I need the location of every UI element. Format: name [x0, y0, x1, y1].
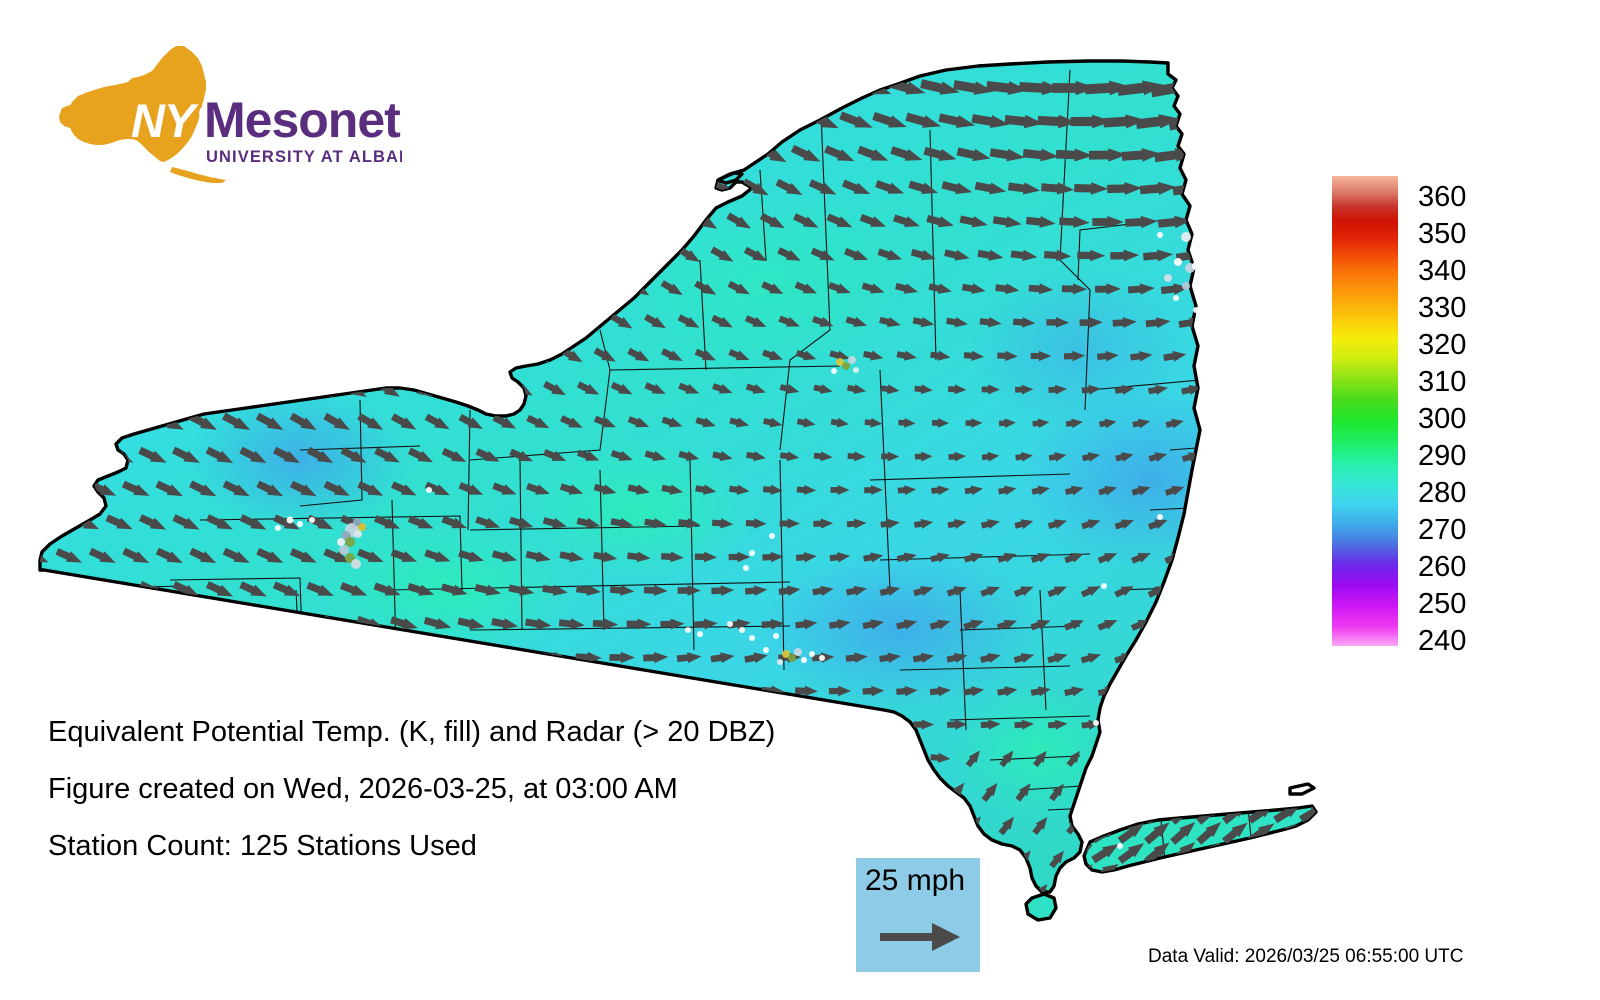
- wind-arrow-icon: [1288, 210, 1320, 235]
- wind-arrow-icon: [13, 144, 58, 166]
- wind-arrow-icon: [1249, 916, 1269, 936]
- wind-arrow-icon: [1208, 247, 1242, 265]
- wind-arrow-icon: [64, 175, 108, 201]
- wind-arrow-icon: [440, 649, 470, 667]
- wind-arrow-icon: [507, 243, 536, 269]
- radar-echo-cell: [788, 654, 796, 662]
- wind-arrow-icon: [490, 683, 520, 698]
- radar-echo-cell: [831, 368, 837, 374]
- wind-arrow-icon: [200, 173, 241, 204]
- wind-arrow-icon: [474, 310, 503, 335]
- wind-arrow-icon: [1266, 882, 1286, 902]
- radar-echo-cell: [749, 635, 755, 641]
- colorbar-tick-350: 350: [1418, 220, 1466, 249]
- wind-arrow-icon: [1231, 415, 1252, 430]
- wind-arrow-icon: [706, 108, 740, 135]
- wind-arrow-icon: [350, 72, 392, 103]
- colorbar-tick-280: 280: [1418, 479, 1466, 508]
- colorbar-tick-270: 270: [1418, 516, 1466, 545]
- wind-arrow-icon: [319, 207, 355, 238]
- wind-arrow-icon: [21, 744, 51, 772]
- wind-arrow-icon: [1147, 649, 1170, 665]
- radar-echo-cell: [777, 659, 783, 665]
- wind-arrow-icon: [1081, 781, 1101, 803]
- radar-echo-cell: [309, 517, 315, 523]
- wind-arrow-icon: [1211, 314, 1239, 330]
- wind-arrow-icon: [82, 209, 124, 236]
- wind-arrow-icon: [104, 645, 135, 669]
- colorbar-tick-290: 290: [1418, 442, 1466, 471]
- wind-arrow-icon: [198, 106, 243, 136]
- wind-arrow-icon: [574, 176, 603, 202]
- wind-arrow-icon: [642, 244, 669, 267]
- wind-arrow-icon: [1264, 481, 1288, 498]
- wind-arrow-icon: [1230, 548, 1254, 566]
- wind-arrow-icon: [13, 79, 59, 98]
- wind-arrow-icon: [688, 74, 724, 101]
- wind-arrow-icon: [592, 278, 618, 301]
- wind-arrow-icon: [1284, 71, 1320, 104]
- wind-arrow-icon: [1199, 882, 1218, 902]
- radar-echo-cell: [1199, 241, 1205, 247]
- wind-arrow-icon: [251, 207, 289, 238]
- wind-arrow-icon: [1272, 859, 1304, 885]
- wind-arrow-icon: [1099, 748, 1118, 768]
- radar-echo-cell: [339, 545, 349, 555]
- wind-arrow-icon: [438, 174, 472, 204]
- wind-arrow-icon: [305, 647, 337, 669]
- wind-arrow-icon: [421, 207, 454, 236]
- wind-arrow-icon: [657, 142, 688, 168]
- wind-arrow-icon: [71, 645, 101, 669]
- wind-arrow-icon: [1182, 781, 1201, 801]
- wind-arrow-icon: [1267, 106, 1317, 137]
- wind-arrow-icon: [63, 109, 109, 133]
- wind-arrow-icon: [353, 207, 388, 237]
- radar-echo-cell: [1157, 232, 1163, 238]
- wind-arrow-icon: [741, 917, 772, 933]
- wind-arrow-icon: [1282, 719, 1302, 731]
- wind-arrow-icon: [1200, 109, 1250, 135]
- wind-arrow-icon: [235, 241, 272, 271]
- wind-arrow-icon: [51, 344, 88, 368]
- wind-arrow-icon: [121, 612, 152, 635]
- wind-arrow-icon: [269, 241, 305, 271]
- wind-arrow-icon: [55, 612, 85, 635]
- wind-arrow-icon: [352, 139, 390, 171]
- wind-arrow-icon: [1216, 916, 1235, 936]
- wind-arrow-icon: [21, 678, 51, 703]
- wind-arrow-icon: [288, 680, 320, 703]
- radar-echo-cell: [853, 367, 859, 373]
- wind-arrow-icon: [504, 107, 539, 136]
- wind-arrow-icon: [204, 909, 237, 941]
- wind-arrow-icon: [1081, 915, 1101, 937]
- wind-arrow-icon: [121, 678, 153, 703]
- wind-arrow-icon: [707, 918, 739, 934]
- wind-arrow-icon: [166, 174, 208, 204]
- radar-echo-cell: [743, 565, 749, 571]
- wind-arrow-icon: [186, 343, 221, 370]
- data-valid-timestamp: Data Valid: 2026/03/25 06:55:00 UTC: [1148, 946, 1463, 968]
- wind-arrow-icon: [556, 141, 587, 168]
- radar-echo-cell: [1164, 274, 1172, 282]
- figure-station-line: Station Count: 125 Stations Used: [48, 832, 948, 861]
- wind-arrow-icon: [810, 911, 836, 939]
- wind-arrow-icon: [73, 910, 100, 941]
- wind-arrow-icon: [31, 176, 75, 200]
- radar-echo-cell: [351, 559, 361, 569]
- wind-arrow-icon: [50, 277, 90, 302]
- wind-arrow-icon: [389, 343, 420, 369]
- radar-echo-cell: [353, 518, 361, 526]
- wind-arrow-icon: [1272, 839, 1304, 865]
- wind-arrow-icon: [1294, 347, 1320, 366]
- wind-arrow-icon: [609, 244, 636, 267]
- wind-arrow-icon: [491, 344, 519, 367]
- wind-arrow-icon: [1215, 718, 1235, 730]
- wind-arrow-icon: [555, 74, 590, 102]
- wind-arrow-icon: [287, 275, 322, 304]
- wind-arrow-icon: [1169, 858, 1199, 887]
- radar-echo-cell: [739, 627, 745, 633]
- wind-arrow-icon: [787, 75, 825, 101]
- wind-arrow-icon: [370, 173, 406, 204]
- wind-arrow-icon: [1255, 211, 1295, 234]
- wind-arrow-icon: [101, 309, 139, 335]
- wind-arrow-icon: [30, 110, 76, 132]
- wind-arrow-icon: [132, 174, 175, 203]
- figure-title: Equivalent Potential Temp. (K, fill) and…: [48, 718, 948, 747]
- radar-echo-cell: [354, 530, 362, 538]
- wind-arrow-icon: [521, 74, 557, 103]
- wind-arrow-icon: [1183, 75, 1233, 101]
- wind-arrow-icon: [183, 207, 223, 237]
- wind-arrow-icon: [321, 275, 355, 304]
- wind-arrow-icon: [236, 309, 271, 337]
- wind-arrow-icon: [339, 647, 370, 668]
- wind-arrow-icon: [1217, 74, 1267, 103]
- colorbar-tick-250: 250: [1418, 590, 1466, 619]
- wind-arrow-icon: [271, 377, 303, 403]
- radar-echo-cell: [297, 521, 303, 527]
- colorbar-tick-340: 340: [1418, 257, 1466, 286]
- wind-arrow-icon: [456, 208, 488, 236]
- wind-arrow-icon: [1205, 178, 1246, 199]
- wind-arrow-icon: [606, 108, 639, 135]
- wind-arrow-icon: [1226, 280, 1258, 298]
- radar-echo-cell: [794, 648, 802, 656]
- wind-arrow-icon: [488, 140, 522, 169]
- wind-arrow-icon: [1241, 246, 1277, 266]
- wind-arrow-icon: [248, 73, 293, 103]
- wind-arrow-icon: [1216, 849, 1235, 869]
- wind-arrow-icon: [254, 343, 288, 370]
- wind-arrow-icon: [1132, 748, 1151, 768]
- wind-arrow-icon: [674, 176, 704, 201]
- wind-arrow-icon: [32, 243, 73, 267]
- wind-arrow-icon: [336, 173, 373, 204]
- wind-arrow-icon: [88, 612, 118, 635]
- wind-arrow-icon: [384, 72, 425, 103]
- radar-echo-cell: [769, 533, 775, 539]
- wind-arrow-icon: [658, 210, 686, 234]
- wind-arrow-icon: [405, 241, 437, 270]
- wind-arrow-icon: [1264, 684, 1286, 698]
- radar-echo-cell: [773, 633, 779, 639]
- wind-arrow-icon: [1247, 581, 1271, 600]
- wind-arrow-icon: [135, 309, 172, 336]
- wind-scale-arrow-icon: [878, 920, 962, 954]
- wind-arrow-icon: [1262, 347, 1290, 364]
- wind-arrow-icon: [164, 107, 209, 136]
- wind-arrow-icon: [71, 579, 101, 601]
- wind-arrow-icon: [1165, 882, 1184, 902]
- wind-arrow-icon: [1266, 748, 1286, 768]
- wind-arrow-icon: [1284, 140, 1320, 171]
- wind-arrow-icon: [154, 678, 186, 703]
- wind-arrow-icon: [151, 275, 189, 303]
- wind-arrow-icon: [138, 645, 169, 669]
- radar-echo-cell: [1192, 262, 1200, 270]
- radar-echo-cell: [1093, 720, 1099, 726]
- wind-arrow-icon: [1274, 245, 1311, 267]
- wind-arrow-icon: [300, 106, 342, 138]
- wind-arrow-icon: [404, 173, 439, 203]
- wind-arrow-icon: [16, 277, 56, 300]
- wind-arrow-icon: [588, 74, 622, 101]
- wind-arrow-icon: [1246, 858, 1277, 885]
- wind-arrow-icon: [1198, 684, 1220, 698]
- wind-arrow-icon: [282, 73, 326, 104]
- wind-arrow-icon: [1197, 615, 1221, 633]
- wind-arrow-icon: [625, 210, 653, 234]
- wind-arrow-icon: [406, 309, 437, 335]
- wind-arrow-icon: [1244, 314, 1274, 332]
- wind-arrow-icon: [673, 918, 705, 932]
- wind-arrow-icon: [221, 679, 253, 703]
- wind-arrow-icon: [474, 649, 503, 665]
- wind-arrow-icon: [1186, 144, 1230, 166]
- wind-arrow-icon: [423, 275, 454, 302]
- wind-arrow-icon: [87, 678, 118, 704]
- wind-arrow-icon: [113, 75, 160, 100]
- wind-arrow-icon: [255, 613, 286, 635]
- colorbar-tick-320: 320: [1418, 331, 1466, 360]
- wind-arrow-icon: [1098, 881, 1118, 902]
- wind-arrow-icon: [237, 377, 270, 403]
- wind-arrow-icon: [105, 910, 134, 942]
- radar-echo-cell: [1181, 232, 1191, 242]
- wind-arrow-icon: [202, 309, 238, 337]
- wind-arrow-icon: [754, 75, 792, 102]
- wind-arrow-icon: [1197, 482, 1219, 498]
- radar-echo-cell: [819, 655, 825, 661]
- wind-arrow-icon: [1223, 212, 1261, 232]
- wind-arrow-icon: [541, 243, 569, 268]
- wind-arrow-icon: [558, 209, 587, 234]
- wind-arrow-icon: [284, 139, 325, 171]
- wind-arrow-icon: [452, 73, 490, 103]
- wind-arrow-icon: [167, 241, 206, 270]
- wind-arrow-icon: [1115, 718, 1135, 730]
- wind-arrow-icon: [1196, 348, 1221, 363]
- wind-arrow-icon: [418, 73, 457, 104]
- radar-echo-cell: [809, 651, 815, 657]
- radar-echo-cell: [275, 525, 281, 531]
- wind-arrow-icon: [739, 108, 774, 134]
- wind-arrow-icon: [1064, 881, 1084, 903]
- wind-arrow-icon: [23, 877, 49, 907]
- wind-arrow-icon: [148, 140, 192, 169]
- wind-arrow-icon: [149, 207, 190, 236]
- wind-arrow-icon: [1214, 382, 1237, 397]
- wind-arrow-icon: [15, 210, 58, 234]
- wind-arrow-icon: [1213, 581, 1237, 600]
- wind-arrow-icon: [591, 210, 619, 235]
- wind-arrow-icon: [237, 910, 271, 942]
- wind-arrow-icon: [86, 411, 119, 434]
- wind-arrow-icon: [537, 917, 573, 935]
- wind-arrow-icon: [1298, 859, 1320, 884]
- wind-arrow-icon: [402, 106, 440, 137]
- wind-arrow-icon: [100, 242, 140, 269]
- wind-arrow-icon: [321, 343, 353, 370]
- radar-echo-cell: [685, 627, 691, 633]
- wind-arrow-icon: [1198, 416, 1219, 430]
- wind-arrow-icon: [21, 613, 50, 636]
- wind-arrow-icon: [40, 910, 65, 941]
- colorbar-tick-310: 310: [1418, 368, 1466, 397]
- wind-arrow-icon: [1247, 649, 1271, 666]
- wind-arrow-icon: [1298, 839, 1320, 864]
- wind-arrow-icon: [472, 174, 505, 203]
- wind-arrow-icon: [147, 75, 194, 102]
- wind-arrow-icon: [97, 108, 143, 134]
- wind-arrow-icon: [318, 139, 357, 171]
- wind-arrow-icon: [372, 648, 403, 668]
- wind-arrow-icon: [386, 139, 423, 170]
- wind-arrow-icon: [169, 309, 205, 336]
- wind-arrow-icon: [454, 140, 489, 170]
- wind-arrow-icon: [1090, 799, 1122, 825]
- wind-arrow-icon: [608, 176, 637, 201]
- wind-arrow-icon: [1249, 849, 1269, 869]
- wind-arrow-icon: [38, 579, 68, 601]
- wind-arrow-icon: [220, 343, 254, 370]
- wind-arrow-icon: [1246, 838, 1277, 865]
- wind-arrow-icon: [690, 142, 722, 168]
- wind-arrow-icon: [268, 173, 307, 204]
- wind-arrow-icon: [524, 209, 554, 236]
- radar-echo-cell: [337, 538, 345, 546]
- wind-arrow-icon: [270, 309, 304, 337]
- wind-arrow-icon: [693, 684, 719, 699]
- radar-echo-cell: [763, 647, 769, 653]
- wind-arrow-icon: [214, 73, 260, 102]
- wind-arrow-icon: [1296, 615, 1320, 634]
- wind-arrow-icon: [152, 343, 188, 369]
- wind-arrow-icon: [22, 811, 50, 840]
- wind-arrow-icon: [54, 678, 85, 703]
- radar-echo-cell: [842, 362, 850, 370]
- wind-arrow-icon: [217, 207, 256, 238]
- figure-caption-block: Equivalent Potential Temp. (K, fill) and…: [48, 718, 948, 889]
- wind-arrow-icon: [1264, 415, 1286, 431]
- wind-arrow-icon: [155, 612, 186, 635]
- wind-arrow-icon: [1214, 515, 1237, 532]
- wind-arrow-icon: [436, 914, 474, 938]
- wind-arrow-icon: [1164, 684, 1186, 698]
- wind-arrow-icon: [54, 479, 85, 501]
- wind-arrow-icon: [372, 309, 404, 336]
- wind-arrow-icon: [558, 685, 586, 698]
- wind-arrow-icon: [1296, 547, 1320, 566]
- wind-arrow-icon: [85, 344, 121, 369]
- wind-arrow-icon: [1190, 213, 1227, 231]
- wind-arrow-icon: [69, 378, 104, 401]
- colorbar-tick-240: 240: [1418, 627, 1466, 656]
- wind-arrow-icon: [304, 309, 337, 337]
- radar-echo-cell: [727, 621, 733, 627]
- wind-arrow-icon: [70, 445, 102, 467]
- radar-echo-cell: [1101, 583, 1107, 589]
- wind-arrow-icon: [436, 106, 473, 137]
- wind-arrow-icon: [402, 913, 440, 939]
- wind-arrow-icon: [524, 684, 553, 698]
- wind-arrow-icon: [232, 106, 276, 137]
- wind-arrow-icon: [1195, 858, 1225, 887]
- wind-arrow-icon: [1163, 615, 1186, 633]
- radar-echo-cell: [1193, 307, 1199, 313]
- wind-arrow-icon: [116, 208, 158, 236]
- wind-arrow-icon: [506, 175, 538, 203]
- wind-arrow-icon: [542, 311, 569, 334]
- wind-arrow-icon: [1193, 281, 1223, 297]
- wind-arrow-icon: [672, 108, 706, 135]
- wind-arrow-icon: [133, 241, 173, 269]
- colorbar: 360 350 340 330 320 310 300 290 280 270 …: [1332, 176, 1582, 656]
- radar-echo-cell: [1240, 860, 1246, 866]
- radar-echo-cell: [1182, 282, 1190, 290]
- wind-arrow-icon: [118, 343, 154, 369]
- wind-arrow-icon: [355, 681, 387, 702]
- wind-arrow-icon: [490, 276, 519, 301]
- wind-arrow-icon: [1148, 718, 1168, 730]
- wind-arrow-icon: [47, 143, 92, 167]
- wind-arrow-icon: [130, 108, 176, 136]
- wind-scale-key: 25 mph: [856, 858, 980, 972]
- wind-arrow-icon: [1230, 615, 1254, 633]
- wind-arrow-icon: [503, 916, 540, 936]
- wind-arrow-icon: [80, 142, 125, 168]
- colorbar-tick-330: 330: [1418, 294, 1466, 323]
- wind-arrow-icon: [1182, 718, 1202, 730]
- wind-arrow-icon: [387, 207, 421, 237]
- wind-arrow-icon: [253, 275, 289, 304]
- wind-arrow-icon: [1270, 175, 1315, 201]
- wind-arrow-icon: [338, 309, 371, 336]
- wind-arrow-icon: [204, 646, 236, 670]
- wind-arrow-icon: [34, 311, 72, 335]
- wind-arrow-icon: [369, 912, 407, 939]
- wind-arrow-icon: [355, 343, 387, 369]
- wind-arrow-icon: [18, 345, 55, 368]
- wind-arrow-icon: [302, 173, 340, 205]
- wind-arrow-icon: [1299, 882, 1319, 902]
- wind-arrow-icon: [1277, 313, 1308, 332]
- figure-created-line: Figure created on Wed, 2026-03-25, at 03…: [48, 775, 948, 804]
